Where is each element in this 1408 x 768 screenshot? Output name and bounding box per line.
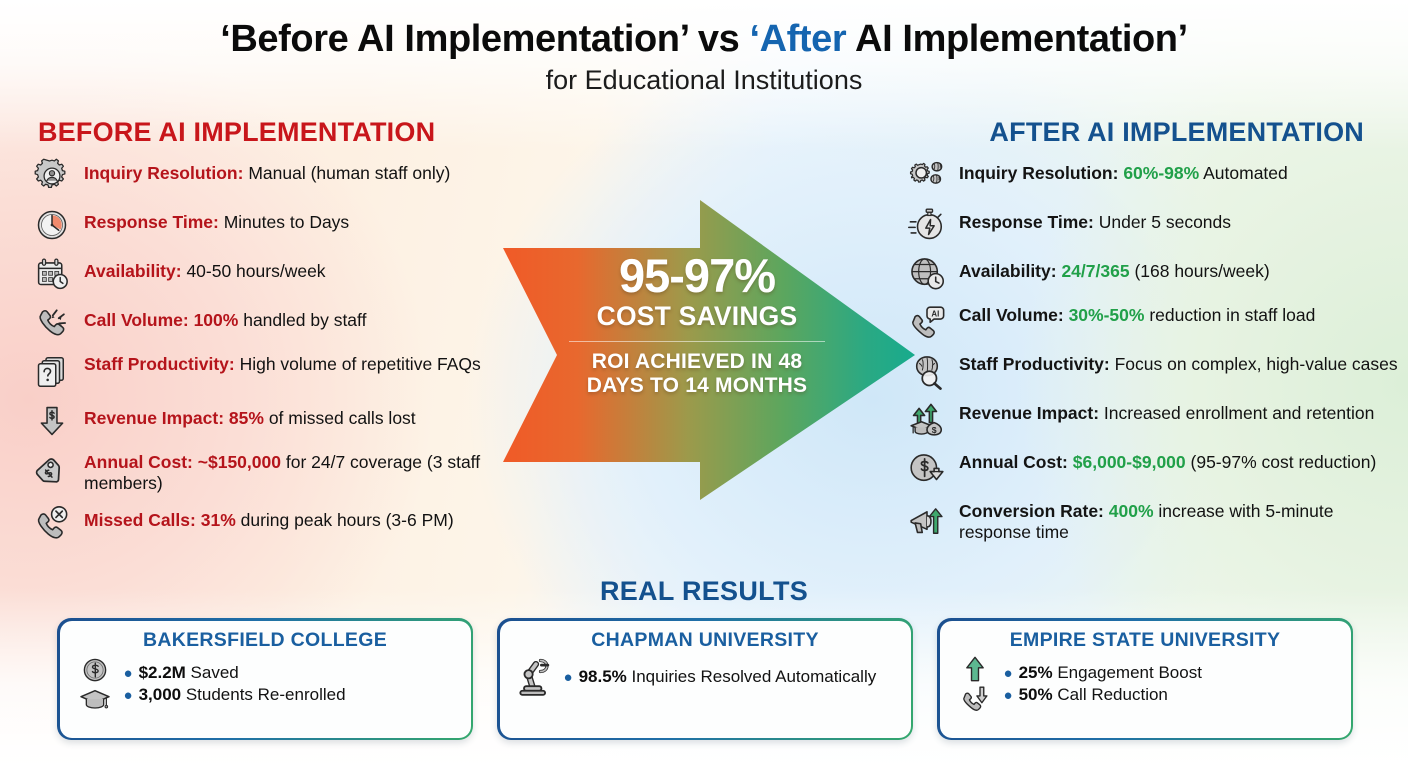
item-label: Availability: [959, 261, 1057, 281]
phone-down-icon [959, 684, 991, 714]
item-value: 85% [229, 408, 264, 428]
card-line-value: $2.2M [139, 663, 186, 682]
item-label: Inquiry Resolution: [84, 163, 243, 183]
before-column-heading: BEFORE AI IMPLEMENTATION [38, 117, 435, 148]
item-rest: Focus on complex, high-value cases [1110, 354, 1398, 374]
item-value: 31% [201, 510, 236, 530]
roi-line-1: ROI ACHIEVED IN 48 [563, 350, 831, 374]
item-label: Annual Cost: [959, 452, 1068, 472]
title-part-2: AI Implementation’ [846, 18, 1187, 60]
list-item: Staff Productivity: Focus on complex, hi… [905, 351, 1405, 393]
card-title: CHAPMAN UNIVERSITY [512, 629, 899, 652]
item-label: Staff Productivity: [84, 354, 235, 374]
item-rest: (168 hours/week) [1130, 261, 1270, 281]
card-line-text: Students Re-enrolled [181, 685, 345, 704]
calendar-clock-icon [30, 253, 74, 295]
item-label: Call Volume: [959, 305, 1064, 325]
item-rest: of missed calls lost [264, 408, 416, 428]
header: ‘Before AI Implementation’ vs ‘After AI … [0, 18, 1408, 96]
item-rest: Manual (human staff only) [243, 163, 450, 183]
list-item: Staff Productivity: High volume of repet… [30, 351, 560, 393]
infographic-canvas: ‘Before AI Implementation’ vs ‘After AI … [0, 0, 1408, 768]
up-arrow-icon [961, 655, 989, 683]
robot-arm-icon [513, 655, 557, 699]
item-value: 30%-50% [1069, 305, 1145, 325]
down-arrow-dollar-icon [30, 400, 74, 442]
list-item: $ Revenue Impact: Increased enrollment a… [905, 400, 1405, 442]
divider [569, 341, 825, 342]
list-item: AI Call Volume: 30%-50% reduction in sta… [905, 302, 1405, 344]
bullet-icon: ● [124, 664, 133, 683]
item-label: Call Volume: [84, 310, 189, 330]
card-line: ●$2.2M Saved [124, 662, 459, 684]
list-item: Conversion Rate: 400% increase with 5-mi… [905, 498, 1405, 544]
item-value: 100% [194, 310, 239, 330]
item-label: Annual Cost: [84, 452, 193, 472]
item-label: Inquiry Resolution: [959, 163, 1118, 183]
list-item: Annual Cost: ~$150,000 for 24/7 coverage… [30, 449, 560, 495]
card-line-text: Engagement Boost [1053, 663, 1202, 682]
cost-savings-arrow: 95-97% COST SAVINGS ROI ACHIEVED IN 48 D… [495, 190, 920, 510]
list-item: Annual Cost: $6,000-$9,000 (95-97% cost … [905, 449, 1405, 491]
item-label: Staff Productivity: [959, 354, 1110, 374]
card-line-value: 98.5% [579, 667, 627, 686]
item-rest: handled by staff [238, 310, 366, 330]
results-card-bakersfield[interactable]: BAKERSFIELD COLLEGE [57, 618, 473, 740]
ringing-phone-icon [30, 302, 74, 344]
savings-percent: 95-97% [563, 252, 831, 299]
item-label: Revenue Impact: [959, 403, 1099, 423]
item-rest: High volume of repetitive FAQs [235, 354, 481, 374]
arrow-text-block: 95-97% COST SAVINGS ROI ACHIEVED IN 48 D… [563, 252, 831, 399]
list-item: Inquiry Resolution: Manual (human staff … [30, 155, 560, 197]
list-item: Revenue Impact: 85% of missed calls lost [30, 400, 560, 442]
faq-documents-icon [30, 351, 74, 393]
results-card-empire-state[interactable]: EMPIRE STATE UNIVERSITY [937, 618, 1353, 740]
item-rest: (95-97% cost reduction) [1186, 452, 1377, 472]
list-item: Response Time: Minutes to Days [30, 204, 560, 246]
item-rest: reduction in staff load [1144, 305, 1315, 325]
item-label: Response Time: [959, 212, 1094, 232]
item-rest: during peak hours (3-6 PM) [236, 510, 454, 530]
card-line-value: 50% [1019, 685, 1053, 704]
card-line-text: Saved [186, 663, 239, 682]
item-label: Availability: [84, 261, 182, 281]
roi-line-2: DAYS TO 14 MONTHS [563, 374, 831, 398]
dollar-coin-icon [80, 655, 110, 685]
item-label: Response Time: [84, 212, 219, 232]
missed-call-icon [30, 502, 74, 544]
graduation-cap-icon [79, 686, 111, 714]
card-title: BAKERSFIELD COLLEGE [72, 629, 459, 652]
bullet-icon: ● [1004, 686, 1013, 705]
card-line-text: Inquiries Resolved Automatically [627, 667, 876, 686]
card-line-text: Call Reduction [1053, 685, 1168, 704]
bullet-icon: ● [124, 686, 133, 705]
real-results-heading: REAL RESULTS [0, 576, 1408, 607]
item-rest: 40-50 hours/week [182, 261, 326, 281]
item-label: Conversion Rate: [959, 501, 1104, 521]
card-line: ●50% Call Reduction [1004, 684, 1339, 706]
card-line-value: 25% [1019, 663, 1053, 682]
item-rest: Under 5 seconds [1094, 212, 1231, 232]
after-list: Inquiry Resolution: 60%-98% Automated Re… [905, 155, 1405, 551]
bullet-icon: ● [1004, 664, 1013, 683]
item-label: Missed Calls: [84, 510, 196, 530]
item-value: ~$150,000 [198, 452, 281, 472]
after-column-heading: AFTER AI IMPLEMENTATION [989, 117, 1364, 148]
item-value: $6,000-$9,000 [1073, 452, 1186, 472]
item-value: 60%-98% [1123, 163, 1199, 183]
card-line: ●25% Engagement Boost [1004, 662, 1339, 684]
title-part-1: ‘Before AI Implementation’ vs [220, 18, 749, 60]
svg-text:$: $ [932, 425, 937, 435]
title-highlight: ‘After [749, 18, 846, 60]
price-tag-dollar-icon [30, 449, 74, 491]
item-value: 24/7/365 [1061, 261, 1129, 281]
svg-text:AI: AI [931, 310, 939, 319]
list-item: Availability: 40-50 hours/week [30, 253, 560, 295]
item-rest: Automated [1199, 163, 1288, 183]
card-title: EMPIRE STATE UNIVERSITY [952, 629, 1339, 652]
card-line-value: 3,000 [139, 685, 182, 704]
savings-label: COST SAVINGS [563, 301, 831, 332]
page-title: ‘Before AI Implementation’ vs ‘After AI … [0, 18, 1408, 61]
item-value: 400% [1109, 501, 1154, 521]
card-line: ●98.5% Inquiries Resolved Automatically [564, 666, 899, 688]
list-item: Call Volume: 100% handled by staff [30, 302, 560, 344]
list-item: Response Time: Under 5 seconds [905, 204, 1405, 246]
before-list: Inquiry Resolution: Manual (human staff … [30, 155, 560, 551]
clock-icon [30, 204, 74, 246]
page-subtitle: for Educational Institutions [0, 65, 1408, 96]
item-rest: Minutes to Days [219, 212, 349, 232]
list-item: Availability: 24/7/365 (168 hours/week) [905, 253, 1405, 295]
item-rest: Increased enrollment and retention [1099, 403, 1374, 423]
card-line: ●3,000 Students Re-enrolled [124, 684, 459, 706]
results-card-row: BAKERSFIELD COLLEGE [0, 618, 1408, 743]
results-card-chapman[interactable]: CHAPMAN UNIVERSITY [497, 618, 913, 740]
gear-user-icon [30, 155, 74, 197]
bullet-icon: ● [564, 668, 573, 687]
list-item: Missed Calls: 31% during peak hours (3-6… [30, 502, 560, 544]
list-item: Inquiry Resolution: 60%-98% Automated [905, 155, 1405, 197]
item-label: Revenue Impact: [84, 408, 224, 428]
